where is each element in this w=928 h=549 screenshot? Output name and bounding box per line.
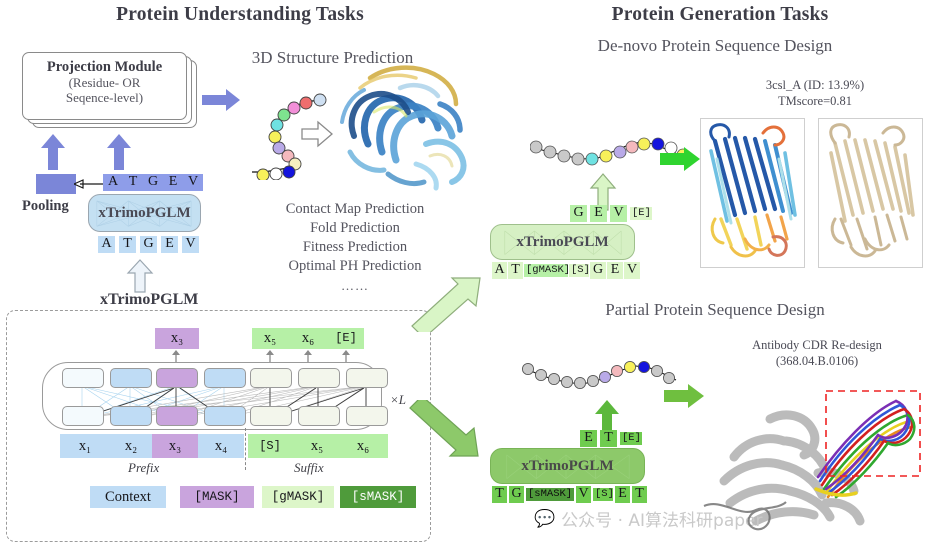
- input-token-x5: x₅: [294, 434, 340, 458]
- legend-context: Context: [90, 486, 166, 508]
- task-item: Contact Map Prediction: [240, 200, 470, 219]
- beta-barrel-tan: [819, 119, 924, 269]
- token: A: [103, 174, 123, 191]
- figure-canvas: Protein Understanding Tasks Protein Gene…: [0, 0, 928, 549]
- encoder-input-token-row: A T G E V: [98, 236, 199, 253]
- task-item: Optimal PH Prediction: [240, 257, 470, 276]
- token: E: [163, 174, 183, 191]
- token-start: [S]: [569, 264, 589, 277]
- token: T: [492, 486, 507, 503]
- transformer-cell-bottom: [204, 406, 246, 426]
- token: T: [508, 262, 523, 279]
- token: A: [98, 236, 115, 253]
- partial-caption-line2: (368.04.B.0106): [712, 354, 922, 370]
- transformer-cell-bottom: [250, 406, 292, 426]
- projection-module-title: Projection Module: [22, 59, 187, 76]
- glm-output-x5: x₅: [252, 328, 288, 349]
- token: E: [607, 262, 623, 279]
- token-end: [E]: [630, 207, 652, 220]
- blue-up-arrow-left: [38, 132, 68, 172]
- denovo-output-token-row: G E V [E]: [570, 205, 652, 222]
- denovo-caption-line1: 3csl_A (ID: 13.9%): [710, 78, 920, 94]
- glm-output-x6: x₆: [290, 328, 326, 349]
- xtrimopglm-denovo-box: xTrimoPGLM: [490, 224, 635, 260]
- token: T: [123, 174, 143, 191]
- denovo-caption: 3csl_A (ID: 13.9%) TMscore=0.81: [710, 78, 920, 109]
- token: G: [140, 236, 157, 253]
- task-item: Fold Prediction: [240, 219, 470, 238]
- token-end: [E]: [620, 432, 642, 445]
- input-token-x1: x₁: [62, 434, 108, 458]
- transformer-cell-top: [62, 368, 104, 388]
- glm-output-end-token: [E]: [328, 328, 364, 349]
- input-token-start: [S]: [248, 434, 292, 458]
- token: V: [576, 486, 591, 503]
- projection-module-sub2: Seqence-level): [22, 91, 187, 106]
- input-token-x2: x₂: [108, 434, 154, 458]
- partial-output-token-row: E T [E]: [580, 430, 642, 447]
- wechat-icon: 💬: [534, 509, 555, 529]
- token-gmask: [gMASK]: [524, 264, 568, 277]
- token: V: [624, 262, 640, 279]
- xtrimopglm-caption: xTrimoPGLM: [100, 291, 198, 309]
- token: T: [600, 430, 617, 447]
- transformer-cell-top: [204, 368, 246, 388]
- transformer-cell-top: [110, 368, 152, 388]
- transformer-cell-bottom: [110, 406, 152, 426]
- token: G: [590, 262, 606, 279]
- token: T: [119, 236, 136, 253]
- token: E: [615, 486, 630, 503]
- token: A: [492, 262, 507, 279]
- token: E: [580, 430, 597, 447]
- token: V: [610, 205, 627, 222]
- xtrimopglm-partial-label: xTrimoPGLM: [521, 458, 613, 475]
- legend-mask: [MASK]: [180, 486, 254, 508]
- partial-subtitle: Partial Protein Sequence Design: [535, 300, 895, 320]
- transformer-cell-bottom: [156, 406, 198, 426]
- legend-gmask: [gMASK]: [262, 486, 334, 508]
- transformer-cell-top: [156, 368, 198, 388]
- pooling-block: [36, 174, 76, 194]
- input-token-x6: x₆: [340, 434, 386, 458]
- token-start: [S]: [593, 488, 613, 501]
- token: E: [590, 205, 607, 222]
- projection-module-card-stack: Projection Module (Residue- OR Seqence-l…: [22, 52, 197, 128]
- xtrimopglm-encoder-box: xTrimoPGLM: [88, 194, 201, 232]
- xtrimopglm-denovo-label: xTrimoPGLM: [516, 234, 608, 251]
- token: G: [509, 486, 524, 503]
- green-arrow-to-partial: [406, 400, 488, 462]
- left-section-title: Protein Understanding Tasks: [60, 4, 420, 26]
- suffix-label: Suffix: [294, 460, 324, 476]
- beta-barrel-rainbow: [701, 119, 806, 269]
- denovo-structure-reference: [818, 118, 923, 268]
- transformer-cell-bottom: [346, 406, 388, 426]
- xtrimopglm-partial-box: xTrimoPGLM: [490, 448, 645, 484]
- token: E: [161, 236, 178, 253]
- task-item: Fitness Prediction: [240, 238, 470, 257]
- token-smask: [sMASK]: [526, 488, 574, 501]
- token: T: [632, 486, 647, 503]
- partial-caption-line1: Antibody CDR Re-design: [712, 338, 922, 354]
- prefix-label: Prefix: [128, 460, 159, 476]
- right-section-title: Protein Generation Tasks: [540, 4, 900, 26]
- partial-caption: Antibody CDR Re-design (368.04.B.0106): [712, 338, 922, 369]
- projection-module-sub1: (Residue- OR: [22, 76, 187, 91]
- encoder-output-token-row: A T G E V: [103, 174, 203, 191]
- transformer-cell-top: [298, 368, 340, 388]
- green-right-arrow-denovo: [658, 145, 702, 173]
- denovo-structure-predicted: [700, 118, 805, 268]
- denovo-caption-line2: TMscore=0.81: [710, 94, 920, 110]
- token: G: [570, 205, 587, 222]
- watermark-signature-stroke: [700, 496, 790, 538]
- token: V: [183, 174, 203, 191]
- denovo-input-token-row: A T [gMASK] [S] G E V: [492, 262, 640, 279]
- partial-input-token-row: T G [sMASK] V [S] E T: [492, 486, 647, 503]
- transformer-cell-bottom: [62, 406, 104, 426]
- transformer-cell-bottom: [298, 406, 340, 426]
- prefix-suffix-divider: [245, 428, 246, 470]
- glm-output-x3: x₃: [155, 328, 199, 349]
- token: V: [182, 236, 199, 253]
- green-arrow-to-denovo: [406, 276, 486, 332]
- hollow-right-arrow: [300, 118, 334, 152]
- outlined-up-arrow: [126, 258, 154, 294]
- legend-smask: [sMASK]: [340, 486, 416, 508]
- input-token-x3: x₃: [152, 434, 198, 458]
- input-token-x4: x₄: [198, 434, 244, 458]
- pooling-label: Pooling: [22, 198, 69, 215]
- xtrimopglm-encoder-label: xTrimoPGLM: [98, 205, 190, 222]
- transformer-cell-top: [250, 368, 292, 388]
- projection-module-text: Projection Module (Residue- OR Seqence-l…: [22, 52, 187, 105]
- transformer-cell-top: [346, 368, 388, 388]
- denovo-subtitle: De-novo Protein Sequence Design: [535, 36, 895, 56]
- token: G: [143, 174, 163, 191]
- protein-structure-ribbon: [330, 48, 490, 193]
- layer-multiplier-label: ×L: [390, 392, 406, 408]
- blue-up-arrow-right: [104, 132, 134, 172]
